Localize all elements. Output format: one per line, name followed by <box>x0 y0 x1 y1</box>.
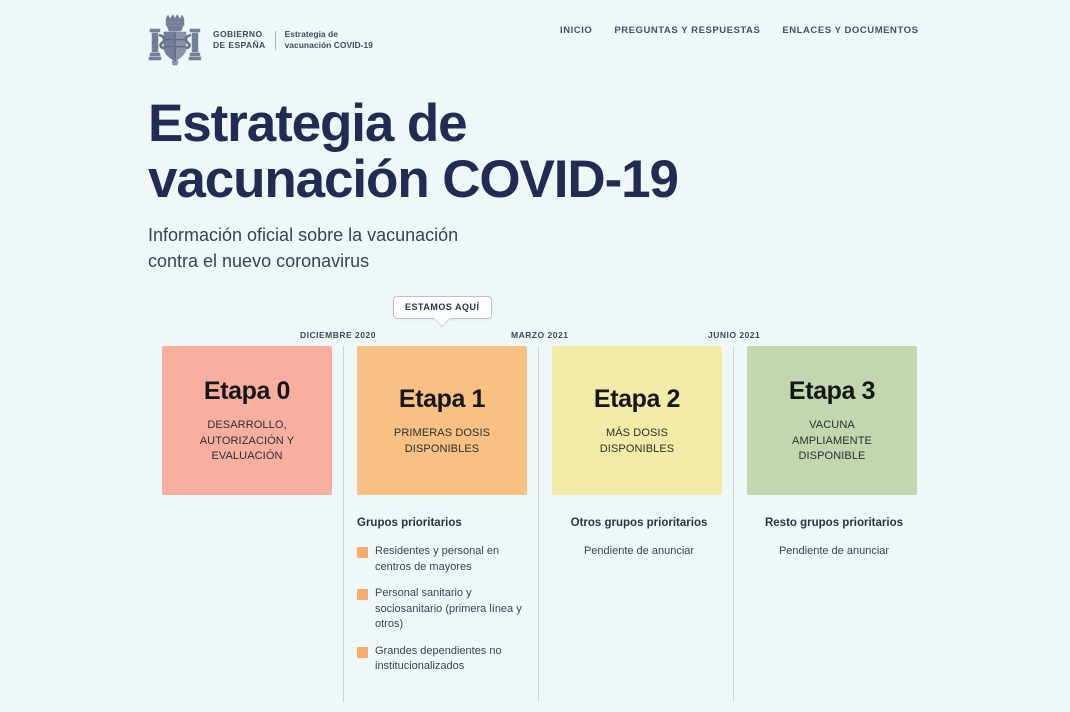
groups-heading-3: Resto grupos prioritarios <box>747 516 921 531</box>
groups-heading-1: Grupos prioritarios <box>357 516 531 531</box>
stage-desc-0: DESARROLLO,AUTORIZACIÓN YEVALUACIÓN <box>200 418 295 465</box>
stage-body-3: Resto grupos prioritarios Pendiente de a… <box>747 495 921 560</box>
priority-groups-list: Residentes y personal en centros de mayo… <box>357 544 531 675</box>
bullet-square-icon <box>357 647 368 658</box>
hero-section: Estrategia de vacunación COVID-19 Inform… <box>148 96 848 274</box>
brand-gov-line2: DE ESPAÑA <box>213 40 266 52</box>
group-label-0: Residentes y personal en centros de mayo… <box>375 544 531 575</box>
stage-body-1: Grupos prioritarios Residentes y persona… <box>357 495 531 675</box>
page-title-line2: vacunación COVID-19 <box>148 150 678 209</box>
stage-card-1[interactable]: Etapa 1 PRIMERAS DOSISDISPONIBLES <box>357 346 527 495</box>
brand-sub-line1: Estrategia de <box>285 29 373 41</box>
vaccination-timeline: ESTAMOS AQUÍ DICIEMBRE 2020 MARZO 2021 J… <box>148 296 948 712</box>
stage-body-2: Otros grupos prioritarios Pendiente de a… <box>552 495 726 560</box>
main-navigation: INICIO PREGUNTAS Y RESPUESTAS ENLACES Y … <box>560 25 918 36</box>
stage-desc-2: MÁS DOSISDISPONIBLES <box>600 426 674 457</box>
page-title-line1: Estrategia de <box>148 94 467 153</box>
list-item: Personal sanitario y sociosanitario (pri… <box>357 586 531 633</box>
you-are-here-badge: ESTAMOS AQUÍ <box>393 296 492 319</box>
timeline-date-marzo-2021: MARZO 2021 <box>511 330 568 340</box>
stage-card-0[interactable]: Etapa 0 DESARROLLO,AUTORIZACIÓN YEVALUAC… <box>162 346 332 495</box>
stage-column-0: Etapa 0 DESARROLLO,AUTORIZACIÓN YEVALUAC… <box>148 346 343 712</box>
page-title: Estrategia de vacunación COVID-19 <box>148 96 848 208</box>
stage-desc-3: VACUNAAMPLIAMENTEDISPONIBLE <box>792 418 872 465</box>
stage-title-2: Etapa 2 <box>594 384 680 414</box>
stage-title-0: Etapa 0 <box>204 376 290 406</box>
stage-column-1: Etapa 1 PRIMERAS DOSISDISPONIBLES Grupos… <box>343 346 538 712</box>
list-item: Grandes dependientes no institucionaliza… <box>357 644 531 675</box>
nav-preguntas-y-respuestas[interactable]: PREGUNTAS Y RESPUESTAS <box>614 25 760 36</box>
brand-government-label: GOBIERNO DE ESPAÑA <box>213 29 266 52</box>
nav-enlaces-y-documentos[interactable]: ENLACES Y DOCUMENTOS <box>782 25 918 36</box>
brand-subtitle-label: Estrategia de vacunación COVID-19 <box>285 29 373 52</box>
timeline-date-row: DICIEMBRE 2020 MARZO 2021 JUNIO 2021 <box>148 330 948 344</box>
spain-coat-of-arms-icon <box>146 12 204 68</box>
stage-title-3: Etapa 3 <box>789 376 875 406</box>
stage-body-0 <box>162 495 336 516</box>
column-divider-2 <box>538 346 539 702</box>
brand-gov-line1: GOBIERNO <box>213 29 266 41</box>
page-root: GOBIERNO DE ESPAÑA Estrategia de vacunac… <box>0 0 1070 712</box>
page-subtitle: Información oficial sobre la vacunación … <box>148 222 848 274</box>
site-header: GOBIERNO DE ESPAÑA Estrategia de vacunac… <box>0 0 1070 78</box>
brand-sub-line2: vacunación COVID-19 <box>285 40 373 52</box>
group-label-2: Grandes dependientes no institucionaliza… <box>375 644 531 675</box>
column-divider-1 <box>343 346 344 702</box>
stage-desc-1: PRIMERAS DOSISDISPONIBLES <box>394 426 490 457</box>
group-label-1: Personal sanitario y sociosanitario (pri… <box>375 586 531 633</box>
page-subtitle-line1: Información oficial sobre la vacunación <box>148 225 458 245</box>
stage-card-2[interactable]: Etapa 2 MÁS DOSISDISPONIBLES <box>552 346 722 495</box>
page-subtitle-line2: contra el nuevo coronavirus <box>148 251 369 271</box>
timeline-date-diciembre-2020: DICIEMBRE 2020 <box>300 330 376 340</box>
stage-column-3: Etapa 3 VACUNAAMPLIAMENTEDISPONIBLE Rest… <box>733 346 928 712</box>
brand-logo[interactable]: GOBIERNO DE ESPAÑA Estrategia de vacunac… <box>146 12 373 68</box>
list-item: Residentes y personal en centros de mayo… <box>357 544 531 575</box>
nav-inicio[interactable]: INICIO <box>560 25 592 36</box>
stage-card-3[interactable]: Etapa 3 VACUNAAMPLIAMENTEDISPONIBLE <box>747 346 917 495</box>
stage-title-1: Etapa 1 <box>399 384 485 414</box>
stage-column-2: Etapa 2 MÁS DOSISDISPONIBLES Otros grupo… <box>538 346 733 712</box>
brand-text: GOBIERNO DE ESPAÑA Estrategia de vacunac… <box>213 29 373 52</box>
groups-heading-2: Otros grupos prioritarios <box>552 516 726 531</box>
timeline-date-junio-2021: JUNIO 2021 <box>708 330 760 340</box>
pending-text-3: Pendiente de anunciar <box>747 544 921 560</box>
bullet-square-icon <box>357 547 368 558</box>
bullet-square-icon <box>357 589 368 600</box>
column-divider-3 <box>733 346 734 702</box>
pending-text-2: Pendiente de anunciar <box>552 544 726 560</box>
stage-columns: Etapa 0 DESARROLLO,AUTORIZACIÓN YEVALUAC… <box>148 346 948 712</box>
brand-divider <box>275 31 276 50</box>
